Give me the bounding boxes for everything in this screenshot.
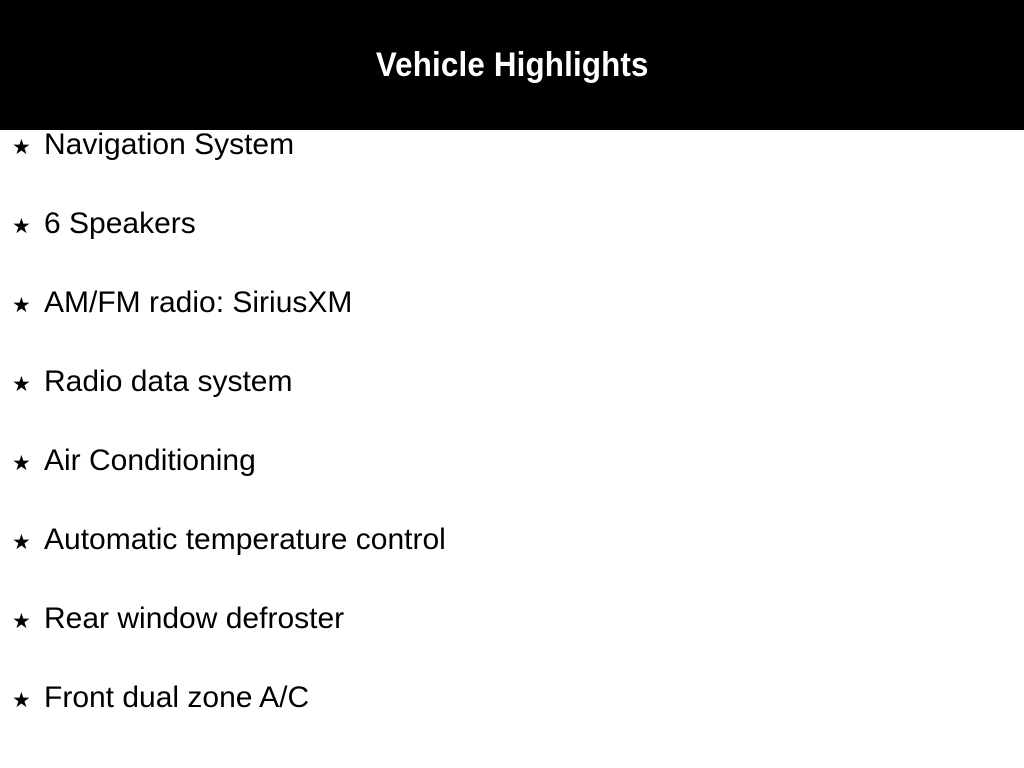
- highlight-label: Front dual zone A/C: [44, 683, 309, 713]
- star-bullet-icon: ★: [12, 453, 44, 474]
- page-title: Vehicle Highlights: [376, 48, 649, 82]
- star-bullet-icon: ★: [12, 295, 44, 316]
- highlight-label: 6 Speakers: [44, 209, 196, 239]
- highlight-label: AM/FM radio: SiriusXM: [44, 288, 352, 318]
- highlight-label: Radio data system: [44, 367, 292, 397]
- list-item: ★ AM/FM radio: SiriusXM: [0, 288, 1024, 367]
- header-bar: Vehicle Highlights: [0, 0, 1024, 130]
- star-bullet-icon: ★: [12, 137, 44, 158]
- highlight-label: Air Conditioning: [44, 446, 256, 476]
- list-item: ★ Front dual zone A/C: [0, 683, 1024, 762]
- star-bullet-icon: ★: [12, 611, 44, 632]
- list-item: ★ Rear window defroster: [0, 604, 1024, 683]
- highlight-label: Navigation System: [44, 130, 294, 160]
- star-bullet-icon: ★: [12, 374, 44, 395]
- star-bullet-icon: ★: [12, 216, 44, 237]
- star-bullet-icon: ★: [12, 690, 44, 711]
- list-item: ★ Radio data system: [0, 367, 1024, 446]
- vehicle-highlights-page: Vehicle Highlights ★ Navigation System ★…: [0, 0, 1024, 768]
- list-item: ★ Automatic temperature control: [0, 525, 1024, 604]
- highlight-label: Automatic temperature control: [44, 525, 446, 555]
- list-item: ★ Navigation System: [0, 130, 1024, 209]
- list-item: ★ 6 Speakers: [0, 209, 1024, 288]
- list-item: ★ Air Conditioning: [0, 446, 1024, 525]
- vehicle-highlights-list: ★ Navigation System ★ 6 Speakers ★ AM/FM…: [0, 130, 1024, 762]
- star-bullet-icon: ★: [12, 532, 44, 553]
- highlight-label: Rear window defroster: [44, 604, 344, 634]
